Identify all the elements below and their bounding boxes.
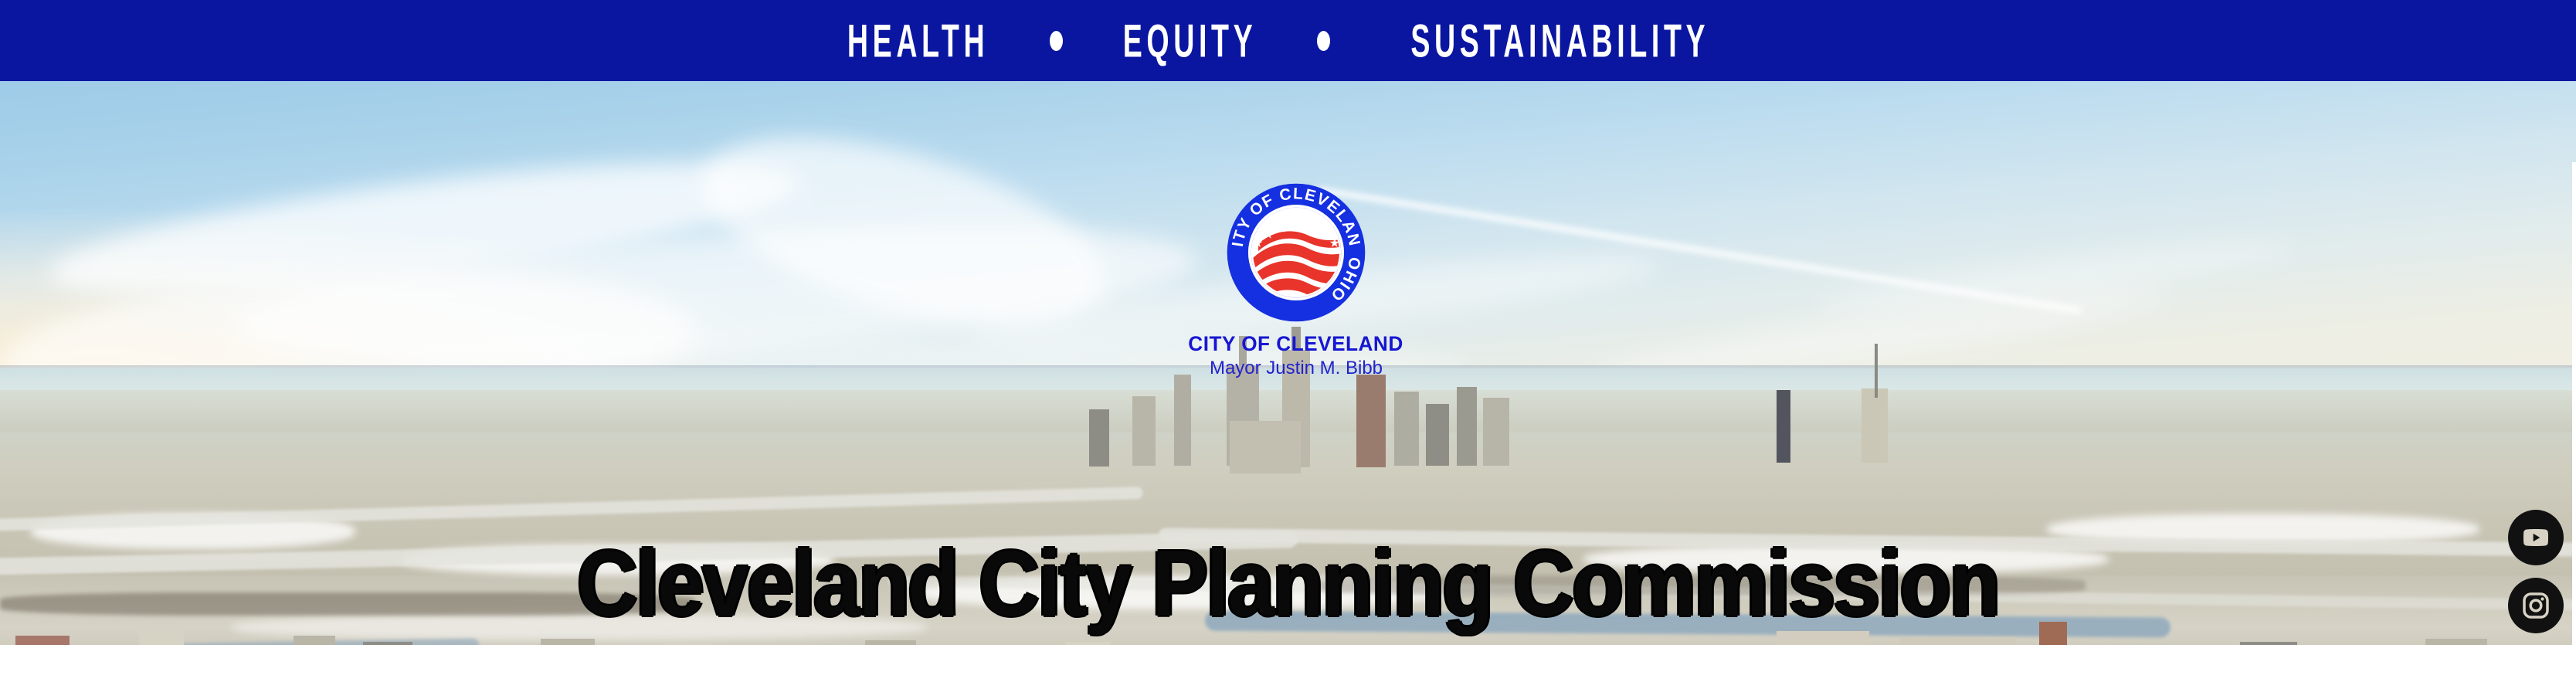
hero-banner: CITY OF CLEVELAND OHIO CITY OF CLEVELAND…: [0, 81, 2576, 645]
tagline-word-equity: EQUITY: [1122, 17, 1257, 63]
foreground-building: [2425, 639, 2487, 645]
page-root: HEALTH EQUITY SUSTAINABILITY: [0, 0, 2576, 682]
city-of-cleveland-seal-icon: CITY OF CLEVELAND OHIO: [1224, 180, 1369, 325]
skyline-building: [1174, 375, 1191, 466]
skyline-building: [1230, 421, 1301, 473]
page-title: Cleveland City Planning Commission: [0, 537, 2576, 630]
instagram-icon: [2520, 590, 2551, 621]
skyline-building: [1862, 389, 1888, 463]
foreground-building: [664, 643, 712, 645]
foreground-building: [2240, 642, 2297, 645]
tagline-bullet-icon-2: [1317, 31, 1330, 51]
tagline-inner: HEALTH EQUITY SUSTAINABILITY: [830, 22, 1747, 59]
skyline-building: [1457, 387, 1477, 466]
social-media-rail: [2508, 510, 2564, 645]
social-link-youtube[interactable]: [2508, 510, 2564, 565]
skyline-building: [1394, 392, 1419, 466]
tagline-bar: HEALTH EQUITY SUSTAINABILITY: [0, 0, 2576, 81]
foreground-building: [294, 636, 335, 645]
skyline-building: [1777, 390, 1790, 463]
foreground-building: [541, 639, 595, 645]
skyline-200-public-square: [1356, 375, 1386, 467]
tagline-word-sustainability: SUSTAINABILITY: [1410, 17, 1709, 63]
tagline-word-health: HEALTH: [847, 17, 989, 63]
youtube-icon: [2520, 522, 2551, 553]
skyline-building: [1132, 396, 1156, 466]
skyline-building: [1426, 404, 1449, 466]
mayor-name-label: Mayor Justin M. Bibb: [1210, 358, 1383, 378]
photo-right-edge: [2572, 162, 2576, 645]
foreground-building: [139, 631, 184, 645]
city-name-label: CITY OF CLEVELAND: [1189, 333, 1403, 355]
tagline-bullet-icon-1: [1050, 31, 1063, 51]
foreground-building: [1066, 642, 1111, 645]
skyline-antenna: [1875, 344, 1878, 398]
social-link-instagram[interactable]: [2508, 578, 2564, 633]
skyline-building: [1089, 409, 1109, 467]
foreground-building: [15, 636, 70, 645]
industrial-silo: [1900, 637, 2016, 645]
foreground-building: [363, 642, 412, 645]
city-branding-block: CITY OF CLEVELAND OHIO CITY OF CLEVELAND…: [1161, 180, 1431, 378]
skyline-building: [1483, 398, 1509, 466]
foreground-building: [865, 640, 916, 645]
